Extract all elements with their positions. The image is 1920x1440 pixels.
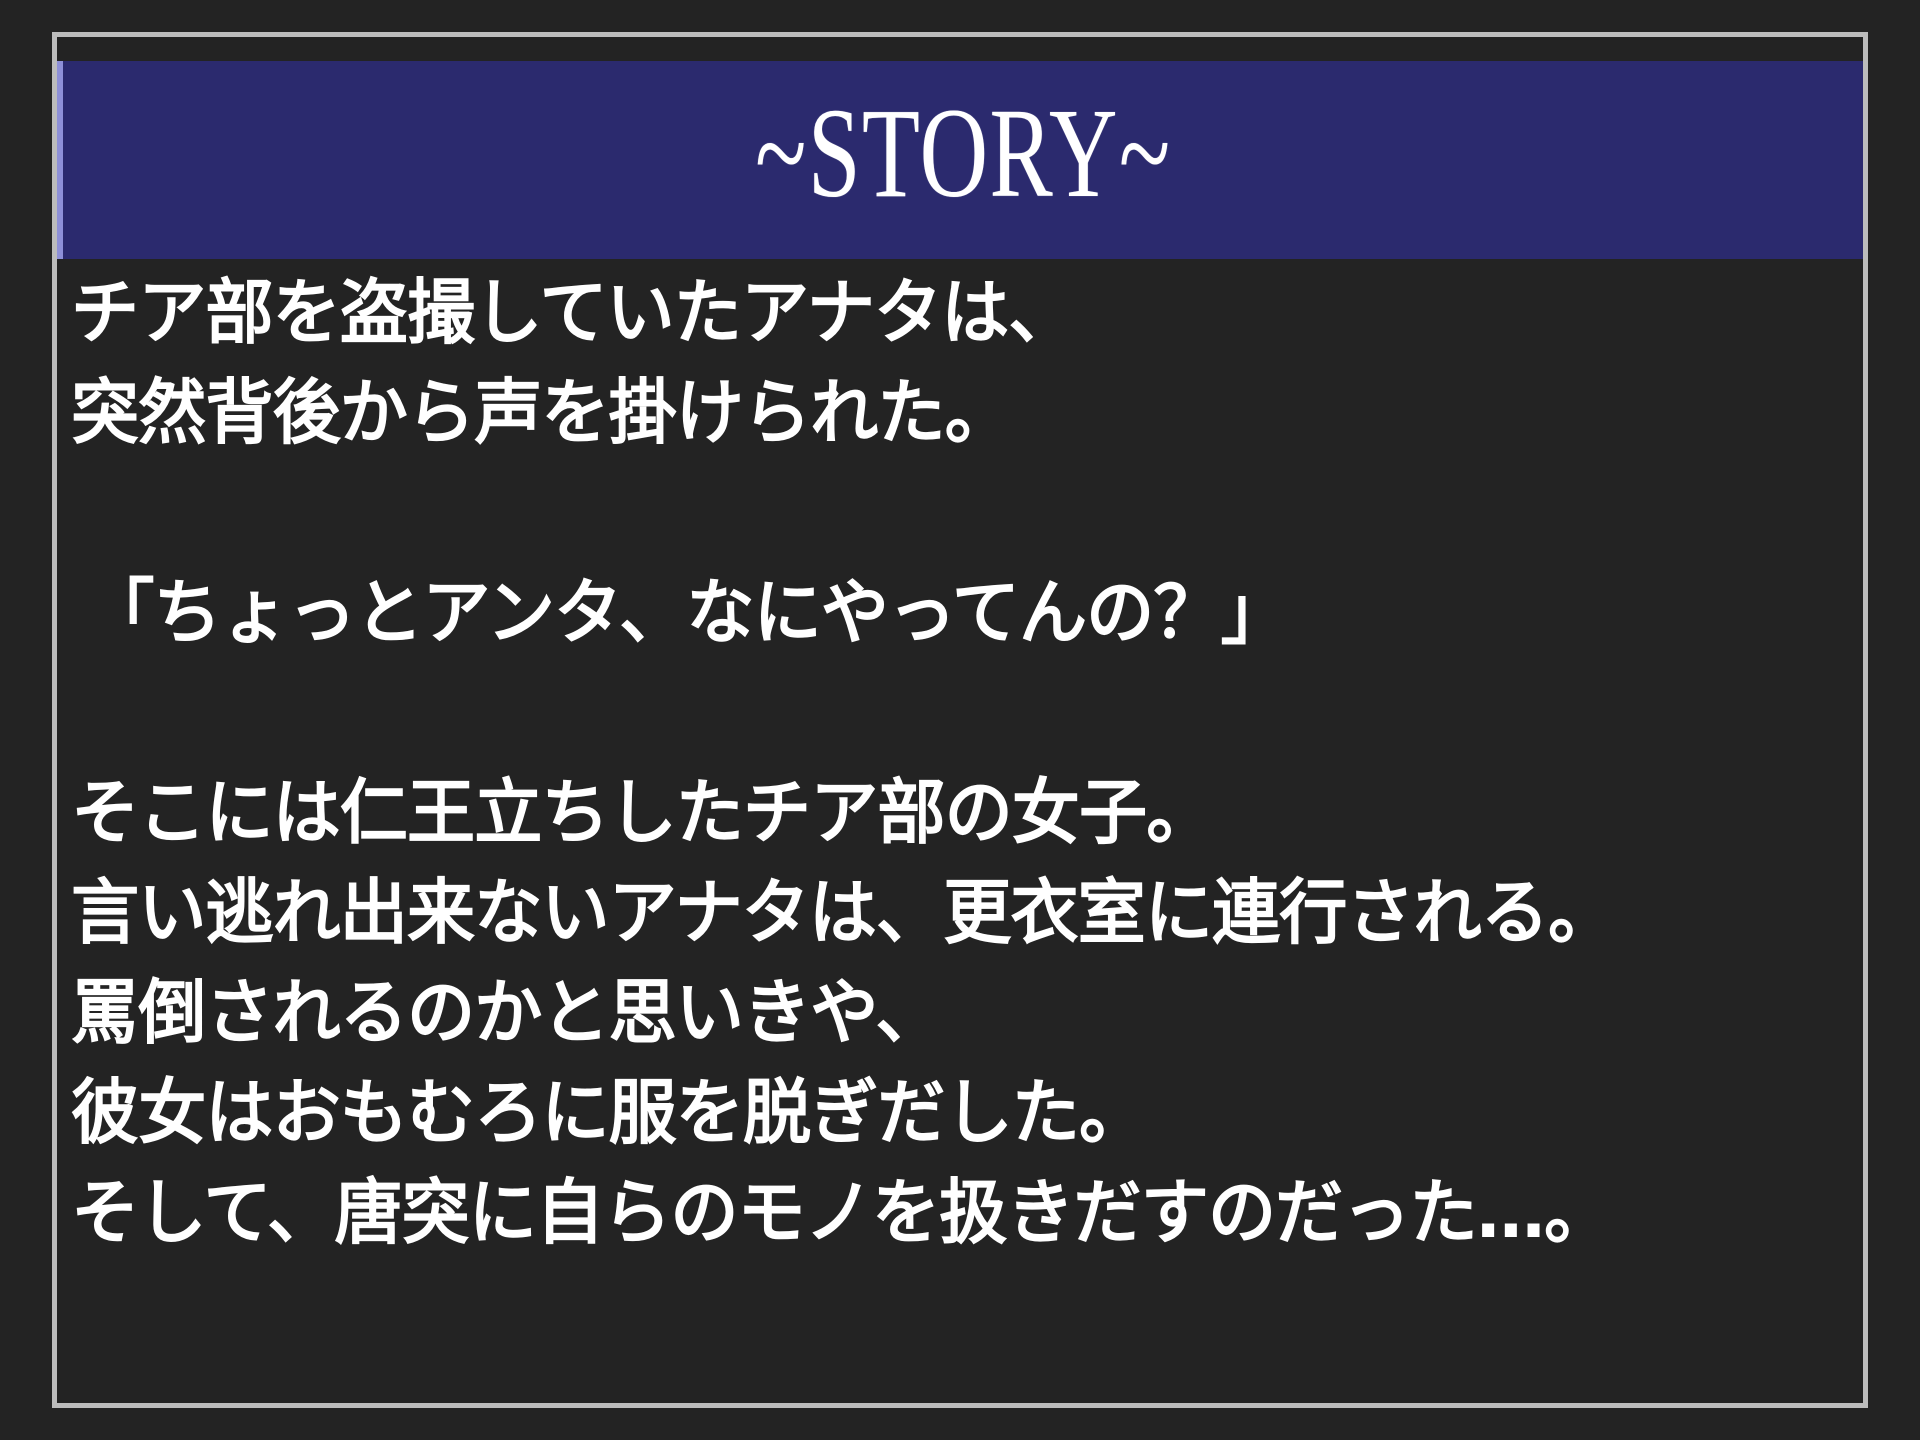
story-line: 言い逃れ出来ないアナタは、更衣室に連行される。 xyxy=(71,863,1791,963)
story-line: チア部を盗撮していたアナタは、 xyxy=(71,263,1791,363)
content-frame-inner: ~STORY~ チア部を盗撮していたアナタは、 突然背後から声を掛けられた。 「… xyxy=(57,37,1863,1403)
story-line: そして、唐突に自らのモノを扱きだすのだった…。 xyxy=(71,1163,1791,1263)
story-line: 突然背後から声を掛けられた。 xyxy=(71,363,1791,463)
story-paragraph-intro: チア部を盗撮していたアナタは、 突然背後から声を掛けられた。 xyxy=(71,263,1863,463)
story-spacer-line xyxy=(71,463,1791,563)
content-frame: ~STORY~ チア部を盗撮していたアナタは、 突然背後から声を掛けられた。 「… xyxy=(52,32,1868,1408)
story-paragraph-gap-1 xyxy=(71,463,1863,563)
story-line-dialogue: 「ちょっとアンタ、なにやってんの？」 xyxy=(71,563,1791,663)
story-line: 彼女はおもむろに服を脱ぎだした。 xyxy=(71,1063,1791,1163)
story-text-block: チア部を盗撮していたアナタは、 突然背後から声を掛けられた。 「ちょっとアンタ、… xyxy=(57,259,1863,1403)
story-line: そこには仁王立ちしたチア部の女子。 xyxy=(71,763,1791,863)
page-title: ~STORY~ xyxy=(755,89,1171,231)
story-line: 罵倒されるのかと思いきや、 xyxy=(71,963,1791,1063)
story-paragraph-dialogue: 「ちょっとアンタ、なにやってんの？」 xyxy=(71,563,1863,663)
story-spacer-line xyxy=(71,663,1791,763)
story-paragraph-gap-2 xyxy=(71,663,1863,763)
story-screen: ~STORY~ チア部を盗撮していたアナタは、 突然背後から声を掛けられた。 「… xyxy=(0,0,1920,1440)
story-paragraph-body: そこには仁王立ちしたチア部の女子。 言い逃れ出来ないアナタは、更衣室に連行される… xyxy=(71,763,1863,1263)
story-header-banner: ~STORY~ xyxy=(57,61,1863,259)
